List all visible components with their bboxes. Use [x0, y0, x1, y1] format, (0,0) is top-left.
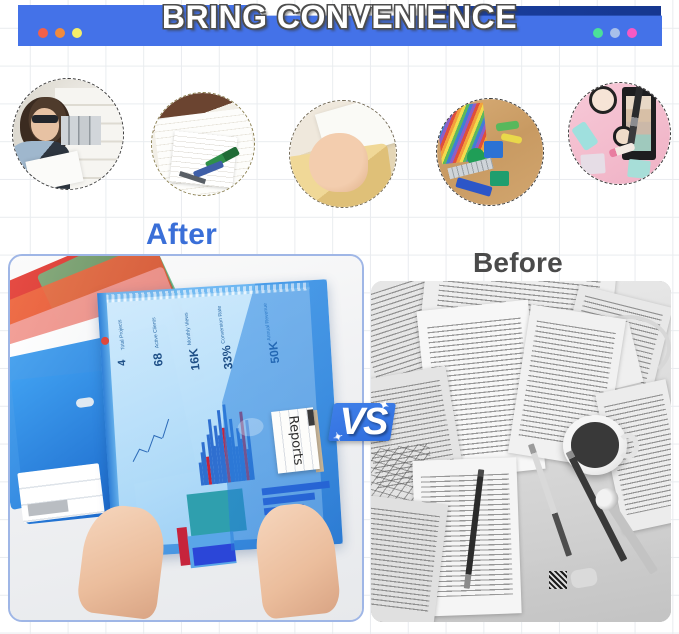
circle-photo-school-supplies [436, 98, 544, 206]
decor-mint-square [627, 159, 651, 179]
circle-photo-makeup-flat-lay [568, 82, 671, 185]
vs-label: VS [327, 396, 399, 448]
before-comparison-panel [371, 281, 671, 622]
decor-green-binder-clip [496, 121, 520, 133]
decor-yellow-binder-clip [500, 133, 522, 145]
line-chart [125, 405, 177, 470]
decor-powder-compact [589, 86, 617, 114]
after-comparison-panel: 4 68 16K 33% 50K Total Projects Active C… [8, 254, 364, 622]
decor-blue-ruler [455, 177, 492, 196]
decor-blush-square [580, 153, 606, 175]
line-segment [148, 435, 155, 452]
reports-label-card: Reports [271, 407, 320, 473]
before-label: Before [473, 247, 563, 279]
decor-face [31, 108, 60, 141]
after-photo: 4 68 16K 33% 50K Total Projects Active C… [10, 256, 362, 620]
line-segment [153, 435, 162, 439]
glasses-icon [32, 115, 58, 123]
circle-photo-hand-holding-envelope [289, 100, 397, 208]
header-banner: BRING CONVENIENCE [0, 0, 679, 52]
kpi-value-0: 4 [116, 359, 129, 366]
reports-label-text: Reports [285, 415, 306, 466]
line-segment [133, 449, 140, 462]
line-segment [139, 449, 148, 453]
qr-sticker [549, 571, 567, 589]
kpi-caption-1: Active Clients [150, 317, 160, 348]
kpi-value-1: 68 [150, 352, 165, 367]
vs-badge: ✦ ✦ VS [327, 396, 399, 450]
page-title: BRING CONVENIENCE [0, 0, 679, 36]
circle-photo-woman-reading-documents [12, 78, 124, 190]
mug-handle [617, 433, 639, 459]
kpi-caption-3: Conversion Rate [216, 306, 227, 344]
decor-hand [309, 133, 368, 192]
decor-green-sharpener [490, 171, 509, 186]
decor-blue-sharpener [484, 141, 503, 158]
after-label: After [146, 218, 217, 252]
kpi-value-2: 16K [186, 348, 202, 371]
kpi-caption-0: Total Projects [116, 319, 126, 350]
circle-photo-stacked-paperwork [151, 92, 255, 196]
decor-teal-tube [571, 121, 599, 152]
feature-circle-row [0, 70, 679, 198]
kpi-caption-2: Monthly Views [183, 312, 193, 345]
line-segment [162, 419, 169, 438]
